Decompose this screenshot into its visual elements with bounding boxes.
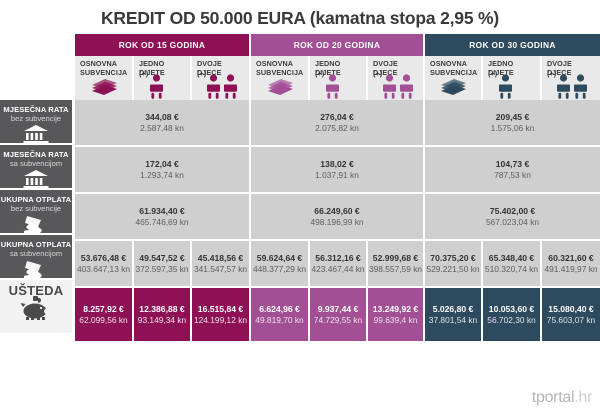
child-icon	[224, 74, 237, 99]
subheader-graphic	[134, 69, 190, 99]
data-cell: 60.321,60 €491.419,97 kn	[542, 241, 600, 286]
cell-value-eur: 172,04 €	[145, 159, 178, 170]
row-label-primary: UKUPNA OTPLATA	[0, 240, 72, 249]
cell-value-kn: 498.196,99 kn	[310, 217, 363, 228]
data-row-1: 344,08 €2.587,48 kn276,04 €2.075,82 kn20…	[72, 100, 600, 145]
data-cell: 59.624,64 €448.377,29 kn	[251, 241, 308, 286]
cell-value-kn: 2.587,48 kn	[140, 123, 184, 134]
child-icon	[326, 74, 339, 99]
group-header-label: ROK OD 15 GODINA	[119, 40, 206, 50]
cell-value-kn: 529.221,50 kn	[426, 264, 479, 275]
cell-value-eur: 138,02 €	[320, 159, 353, 170]
data-cell: 13.249,92 €99.639,4 kn	[368, 288, 423, 341]
cell-value-kn: 787,53 kn	[494, 170, 531, 181]
data-row-5: 8.257,92 €62.099,56 kn12.386,88 €93.149,…	[72, 288, 600, 341]
data-cell: 9.937,44 €74.729,55 kn	[310, 288, 366, 341]
subheader-graphic	[368, 69, 423, 99]
cell-value-kn: 99.639,4 kn	[374, 315, 418, 326]
cell-value-eur: 6.624,96 €	[259, 304, 300, 315]
child-icon	[150, 74, 163, 99]
subheader-row: OSNOVNASUBVENCIJAJEDNO DIJETE(+)DVOJE DJ…	[0, 56, 600, 100]
cell-value-eur: 66.249,60 €	[314, 206, 359, 217]
data-cell: 10.053,60 €56.702,30 kn	[483, 288, 540, 341]
cell-value-kn: 567.023,04 kn	[486, 217, 539, 228]
infographic-table: KREDIT OD 50.000 EURA (kamatna stopa 2,9…	[0, 0, 600, 413]
subheader-col-7: OSNOVNASUBVENCIJA	[425, 56, 481, 100]
data-cell: 172,04 €1.293,74 kn	[75, 147, 249, 192]
group-header-label: ROK OD 30 GODINA	[469, 40, 556, 50]
cell-value-eur: 276,04 €	[320, 112, 353, 123]
row-label-icon-wrap	[0, 214, 72, 236]
cell-value-eur: 344,08 €	[145, 112, 178, 123]
bank-icon	[23, 124, 49, 144]
cell-value-eur: 45.418,56 €	[198, 253, 243, 264]
cell-value-kn: 2.075,82 kn	[315, 123, 359, 134]
data-cell: 75.402,00 €567.023,04 kn	[425, 194, 600, 239]
piggy-bank-icon	[20, 296, 52, 320]
logo-name: tportal	[532, 389, 574, 406]
comparison-table: ROK OD 15 GODINAROK OD 20 GODINAROK OD 3…	[0, 32, 600, 380]
cell-value-eur: 49.547,52 €	[139, 253, 184, 264]
row-label-secondary: bez subvencije	[0, 114, 72, 123]
child-icon	[383, 74, 396, 99]
data-cell: 66.249,60 €498.196,99 kn	[251, 194, 423, 239]
subheader-col-1: OSNOVNASUBVENCIJA	[75, 56, 132, 100]
cell-value-eur: 209,45 €	[496, 112, 529, 123]
data-cell: 8.257,92 €62.099,56 kn	[75, 288, 132, 341]
cell-value-eur: 53.676,48 €	[81, 253, 126, 264]
cell-value-kn: 372.597,35 kn	[135, 264, 188, 275]
cell-value-eur: 65.348,40 €	[489, 253, 534, 264]
cell-value-kn: 1.575,06 kn	[491, 123, 535, 134]
data-cell: 52.999,68 €398.557,59 kn	[368, 241, 423, 286]
cell-value-eur: 8.257,92 €	[83, 304, 124, 315]
subheader-col-6: DVOJE DJECE(+)	[368, 56, 423, 100]
group-header-2: ROK OD 20 GODINA	[251, 34, 423, 56]
data-cell: 138,02 €1.037,91 kn	[251, 147, 423, 192]
child-icon	[574, 74, 587, 99]
data-cell: 49.547,52 €372.597,35 kn	[134, 241, 190, 286]
subheader-graphic	[425, 69, 481, 99]
row-label-column: MJESEČNA RATAbez subvencijeMJESEČNA RATA…	[0, 100, 72, 333]
cell-value-eur: 56.312,16 €	[315, 253, 360, 264]
data-cell: 45.418,56 €341.547,57 kn	[192, 241, 249, 286]
subheader-col-4: OSNOVNASUBVENCIJA	[251, 56, 308, 100]
row-label-primary: UŠTEDA	[0, 286, 72, 295]
data-cell: 6.624,96 €49.819,70 kn	[251, 288, 308, 341]
cell-value-kn: 37.801,54 kn	[429, 315, 477, 326]
group-header-label: ROK OD 20 GODINA	[294, 40, 381, 50]
money-stack-icon	[89, 77, 119, 99]
cell-value-eur: 9.937,44 €	[318, 304, 359, 315]
row-label-primary: MJESEČNA RATA	[0, 105, 72, 114]
page-title: KREDIT OD 50.000 EURA (kamatna stopa 2,9…	[0, 8, 600, 29]
cell-value-eur: 13.249,92 €	[373, 304, 418, 315]
row-label-4: UKUPNA OTPLATAsa subvencijom	[0, 235, 72, 280]
group-header-row: ROK OD 15 GODINAROK OD 20 GODINAROK OD 3…	[0, 32, 600, 56]
subheader-col-5: JEDNO DIJETE(+)	[310, 56, 366, 100]
data-row-2: 172,04 €1.293,74 kn138,02 €1.037,91 kn10…	[72, 147, 600, 192]
data-cell: 53.676,48 €403.647,13 kn	[75, 241, 132, 286]
row-label-primary: MJESEČNA RATA	[0, 150, 72, 159]
cell-value-eur: 70.375,20 €	[430, 253, 475, 264]
cell-value-eur: 75.402,00 €	[490, 206, 535, 217]
data-cell: 15.080,40 €75.603,07 kn	[542, 288, 600, 341]
data-cell: 16.515,84 €124.199,12 kn	[192, 288, 249, 341]
subheader-graphic	[483, 69, 540, 99]
subheader-graphic	[251, 69, 308, 99]
cell-value-kn: 423.467,44 kn	[311, 264, 364, 275]
cell-value-eur: 16.515,84 €	[198, 304, 243, 315]
data-cell: 70.375,20 €529.221,50 kn	[425, 241, 481, 286]
data-cell: 65.348,40 €510.320,74 kn	[483, 241, 540, 286]
cell-value-eur: 60.321,60 €	[548, 253, 593, 264]
cell-value-kn: 398.557,59 kn	[369, 264, 422, 275]
cell-value-kn: 124.199,12 kn	[194, 315, 247, 326]
child-icon	[557, 74, 570, 99]
bank-icon	[23, 169, 49, 189]
child-icon	[207, 74, 220, 99]
cell-value-eur: 61.934,40 €	[139, 206, 184, 217]
subheader-col-9: DVOJE DJECE(+)	[542, 56, 600, 100]
cell-value-kn: 62.099,56 kn	[79, 315, 127, 326]
money-hand-icon	[23, 214, 49, 236]
cell-value-kn: 56.702,30 kn	[487, 315, 535, 326]
data-cell: 5.026,80 €37.801,54 kn	[425, 288, 481, 341]
cell-value-eur: 52.999,68 €	[373, 253, 418, 264]
cell-value-kn: 465.746,69 kn	[135, 217, 188, 228]
cell-value-kn: 93.149,34 kn	[138, 315, 186, 326]
subheader-graphic	[542, 69, 600, 99]
row-label-icon-wrap	[0, 259, 72, 281]
data-cell: 209,45 €1.575,06 kn	[425, 100, 600, 145]
cell-value-eur: 59.624,64 €	[257, 253, 302, 264]
data-cell: 61.934,40 €465.746,69 kn	[75, 194, 249, 239]
row-label-icon-wrap	[0, 296, 72, 320]
subheader-graphic	[75, 69, 132, 99]
cell-value-kn: 1.293,74 kn	[140, 170, 184, 181]
data-cell: 344,08 €2.587,48 kn	[75, 100, 249, 145]
row-label-5: UŠTEDA	[0, 280, 72, 333]
row-label-secondary: sa subvencijom	[0, 159, 72, 168]
row-label-3: UKUPNA OTPLATAbez subvencije	[0, 190, 72, 235]
cell-value-kn: 341.547,57 kn	[194, 264, 247, 275]
data-row-4: 53.676,48 €403.647,13 kn49.547,52 €372.5…	[72, 241, 600, 286]
cell-value-kn: 448.377,29 kn	[253, 264, 306, 275]
data-cell: 104,73 €787,53 kn	[425, 147, 600, 192]
cell-value-eur: 104,73 €	[496, 159, 529, 170]
child-icon	[499, 74, 512, 99]
data-cell: 56.312,16 €423.467,44 kn	[310, 241, 366, 286]
row-label-primary: UKUPNA OTPLATA	[0, 195, 72, 204]
tportal-logo: tportal.hr	[532, 389, 592, 407]
cell-value-kn: 1.037,91 kn	[315, 170, 359, 181]
data-cell: 276,04 €2.075,82 kn	[251, 100, 423, 145]
subheader-col-3: DVOJE DJECE(+)	[192, 56, 249, 100]
data-row-3: 61.934,40 €465.746,69 kn66.249,60 €498.1…	[72, 194, 600, 239]
row-label-1: MJESEČNA RATAbez subvencije	[0, 100, 72, 145]
row-label-secondary: bez subvencije	[0, 204, 72, 213]
group-header-1: ROK OD 15 GODINA	[75, 34, 249, 56]
subheader-graphic	[310, 69, 366, 99]
cell-value-kn: 75.603,07 kn	[547, 315, 595, 326]
row-label-icon-wrap	[0, 124, 72, 144]
cell-value-kn: 74.729,55 kn	[314, 315, 362, 326]
logo-tld: .hr	[574, 389, 592, 406]
money-stack-icon	[265, 77, 295, 99]
row-label-secondary: sa subvencijom	[0, 249, 72, 258]
cell-value-kn: 403.647,13 kn	[77, 264, 130, 275]
cell-value-kn: 510.320,74 kn	[485, 264, 538, 275]
cell-value-eur: 5.026,80 €	[433, 304, 474, 315]
data-cell: 12.386,88 €93.149,34 kn	[134, 288, 190, 341]
cell-value-kn: 491.419,97 kn	[544, 264, 597, 275]
row-label-2: MJESEČNA RATAsa subvencijom	[0, 145, 72, 190]
row-label-icon-wrap	[0, 169, 72, 189]
subheader-graphic	[192, 69, 249, 99]
cell-value-eur: 12.386,88 €	[139, 304, 184, 315]
data-grid: 344,08 €2.587,48 kn276,04 €2.075,82 kn20…	[72, 100, 600, 341]
child-icon	[400, 74, 413, 99]
cell-value-kn: 49.819,70 kn	[255, 315, 303, 326]
money-stack-icon	[438, 77, 468, 99]
group-header-3: ROK OD 30 GODINA	[425, 34, 600, 56]
money-hand-icon	[23, 259, 49, 281]
cell-value-eur: 10.053,60 €	[489, 304, 534, 315]
subheader-col-8: JEDNO DIJETE(+)	[483, 56, 540, 100]
cell-value-eur: 15.080,40 €	[548, 304, 593, 315]
subheader-col-2: JEDNO DIJETE(+)	[134, 56, 190, 100]
